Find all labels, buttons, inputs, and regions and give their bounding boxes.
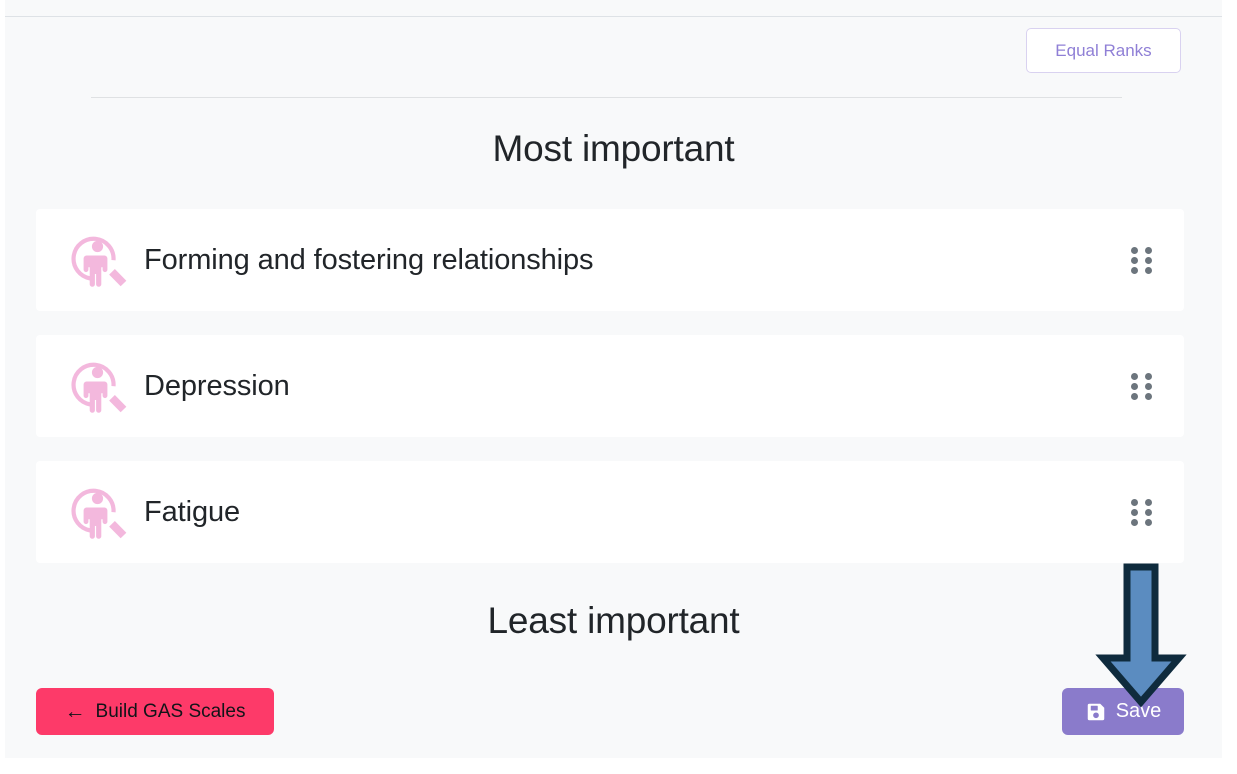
ranking-page: Equal Ranks Most important Forming and f… [5, 0, 1222, 758]
floppy-disk-save-icon [1085, 701, 1107, 723]
goal-card[interactable]: Fatigue [36, 461, 1184, 563]
build-gas-scales-button[interactable]: ← Build GAS Scales [36, 688, 274, 735]
least-important-heading: Least important [5, 600, 1222, 642]
goal-card[interactable]: Depression [36, 335, 1184, 437]
goal-card-list: Forming and fostering relationships [36, 209, 1184, 587]
most-important-heading: Most important [5, 128, 1222, 170]
goal-label: Fatigue [144, 461, 240, 563]
drag-handle-icon[interactable] [1131, 373, 1157, 401]
goal-card[interactable]: Forming and fostering relationships [36, 209, 1184, 311]
save-button[interactable]: Save [1062, 688, 1184, 735]
drag-handle-icon[interactable] [1131, 499, 1157, 527]
person-magnifier-icon [66, 479, 132, 545]
top-divider [5, 16, 1222, 17]
arrow-left-icon: ← [65, 701, 86, 722]
person-magnifier-icon [66, 353, 132, 419]
person-magnifier-icon [66, 227, 132, 293]
goal-label: Depression [144, 335, 290, 437]
drag-handle-icon[interactable] [1131, 247, 1157, 275]
section-divider [91, 97, 1122, 98]
save-label: Save [1116, 700, 1162, 723]
equal-ranks-button[interactable]: Equal Ranks [1026, 28, 1181, 73]
build-gas-scales-label: Build GAS Scales [96, 701, 246, 723]
goal-label: Forming and fostering relationships [144, 209, 593, 311]
